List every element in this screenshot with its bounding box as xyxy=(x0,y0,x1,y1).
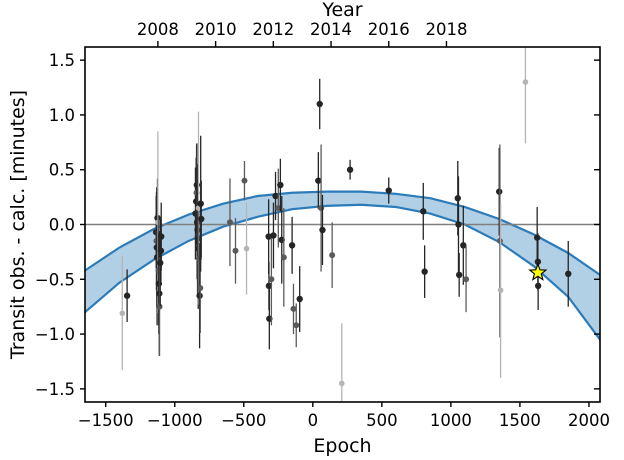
data-point xyxy=(497,145,503,338)
point-marker xyxy=(347,167,353,173)
point-marker xyxy=(157,260,163,266)
data-point xyxy=(317,79,323,129)
y-tick-label: −0.5 xyxy=(35,270,75,289)
point-marker xyxy=(158,233,164,239)
data-point xyxy=(455,176,461,272)
data-point xyxy=(232,218,238,284)
data-point xyxy=(420,183,426,240)
data-point xyxy=(296,266,302,332)
point-marker xyxy=(197,285,203,291)
data-point xyxy=(329,222,335,288)
data-point xyxy=(421,245,427,298)
point-marker xyxy=(386,187,392,193)
point-marker xyxy=(534,234,540,240)
band-fill-region xyxy=(85,192,600,340)
data-point xyxy=(339,323,345,402)
year-tick-label: 2008 xyxy=(137,20,179,39)
point-marker xyxy=(281,254,287,260)
point-marker xyxy=(456,272,462,278)
data-point xyxy=(227,178,233,266)
point-marker xyxy=(232,248,238,254)
year-tick-label: 2016 xyxy=(368,20,410,39)
point-marker xyxy=(318,205,324,211)
x-tick-label: 1500 xyxy=(499,411,541,430)
data-point xyxy=(318,145,324,272)
data-point xyxy=(289,217,295,274)
year-tick-label: 2012 xyxy=(252,20,294,39)
point-marker xyxy=(339,381,345,387)
y-tick-label: −1.5 xyxy=(35,380,75,399)
y-tick-label: 0.5 xyxy=(49,161,75,180)
point-marker xyxy=(289,242,295,248)
data-point xyxy=(523,47,529,143)
x-tick-label: 1000 xyxy=(430,411,472,430)
model-confidence-band xyxy=(85,192,600,340)
y-tick-label: 0.0 xyxy=(49,216,75,235)
point-marker xyxy=(157,304,163,310)
point-marker xyxy=(329,252,335,258)
point-marker xyxy=(523,79,529,85)
point-marker xyxy=(497,238,503,244)
point-marker xyxy=(241,178,247,184)
point-marker xyxy=(290,306,296,312)
y-axis-title: Transit obs. - calc. [minutes] xyxy=(7,90,29,360)
point-marker xyxy=(319,227,325,233)
x-axis-title: Epoch xyxy=(313,435,371,457)
year-tick-label: 2010 xyxy=(195,20,237,39)
transit-timing-plot: −1500−1000−5000500100015002000−1.5−1.0−0… xyxy=(0,0,624,460)
y-tick-label: 1.5 xyxy=(49,51,75,70)
x-tick-label: 2000 xyxy=(568,411,610,430)
point-marker xyxy=(455,221,461,227)
point-marker xyxy=(463,276,469,282)
point-marker xyxy=(317,101,323,107)
transit-timing-figure: −1500−1000−5000500100015002000−1.5−1.0−0… xyxy=(0,0,624,460)
x-tick-label: −500 xyxy=(221,411,266,430)
point-marker xyxy=(565,271,571,277)
point-marker xyxy=(498,287,504,293)
point-marker xyxy=(296,296,302,302)
x-tick-label: −1500 xyxy=(78,411,134,430)
year-tick-label: 2018 xyxy=(425,20,467,39)
top-axis-title: Year xyxy=(321,0,362,21)
point-marker xyxy=(124,293,130,299)
y-tick-label: −1.0 xyxy=(35,325,75,344)
point-marker xyxy=(496,188,502,194)
point-marker xyxy=(535,283,541,289)
point-marker xyxy=(268,276,274,282)
point-marker xyxy=(277,182,283,188)
point-marker xyxy=(196,293,202,299)
x-tick-label: 500 xyxy=(366,411,398,430)
point-marker xyxy=(421,268,427,274)
year-tick-label: 2014 xyxy=(310,20,352,39)
point-marker xyxy=(119,310,125,316)
y-tick-label: 1.0 xyxy=(49,106,75,125)
point-marker xyxy=(198,216,204,222)
point-marker xyxy=(293,322,299,328)
x-tick-label: −1000 xyxy=(147,411,203,430)
point-marker xyxy=(455,195,461,201)
point-marker xyxy=(244,246,250,252)
data-point xyxy=(463,246,469,312)
point-marker xyxy=(420,208,426,214)
data-point xyxy=(241,161,247,200)
data-point xyxy=(347,160,353,180)
point-marker xyxy=(227,219,233,225)
data-point xyxy=(456,253,462,297)
x-tick-label: 0 xyxy=(308,411,319,430)
point-marker xyxy=(270,232,276,238)
